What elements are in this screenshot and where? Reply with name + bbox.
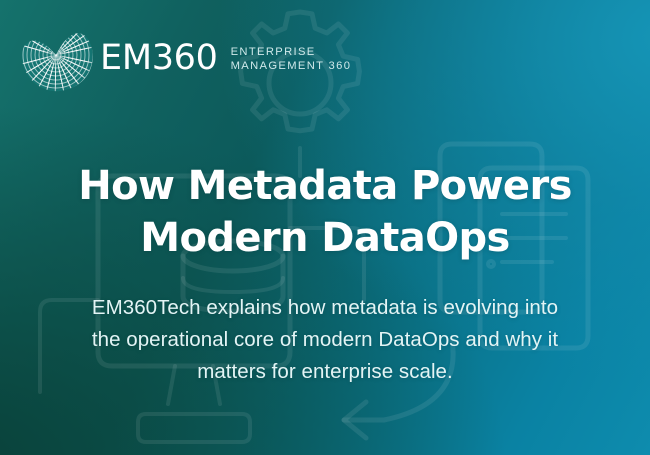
tagline-line-2: MANAGEMENT 360 — [231, 59, 352, 74]
subtitle-line-1: EM360Tech explains how metadata is evolv… — [42, 292, 608, 324]
subtitle-line-3: matters for enterprise scale. — [42, 356, 608, 388]
page-title: How Metadata Powers Modern DataOps — [0, 160, 650, 264]
tagline-line-1: ENTERPRISE — [231, 45, 352, 60]
brand-tagline: ENTERPRISE MANAGEMENT 360 — [231, 45, 352, 74]
social-card: EM360 ENTERPRISE MANAGEMENT 360 How Meta… — [0, 0, 650, 455]
page-subtitle: EM360Tech explains how metadata is evolv… — [42, 292, 608, 388]
brand-logo: EM360 ENTERPRISE MANAGEMENT 360 — [14, 13, 351, 97]
headline-line-1: How Metadata Powers — [0, 160, 650, 212]
brand-wordmark: EM360 — [100, 41, 218, 76]
headline-line-2: Modern DataOps — [0, 212, 650, 264]
logo-text-group: EM360 ENTERPRISE MANAGEMENT 360 — [100, 41, 351, 76]
em360-fan-logo-icon — [14, 13, 98, 97]
subtitle-line-2: the operational core of modern DataOps a… — [42, 324, 608, 356]
